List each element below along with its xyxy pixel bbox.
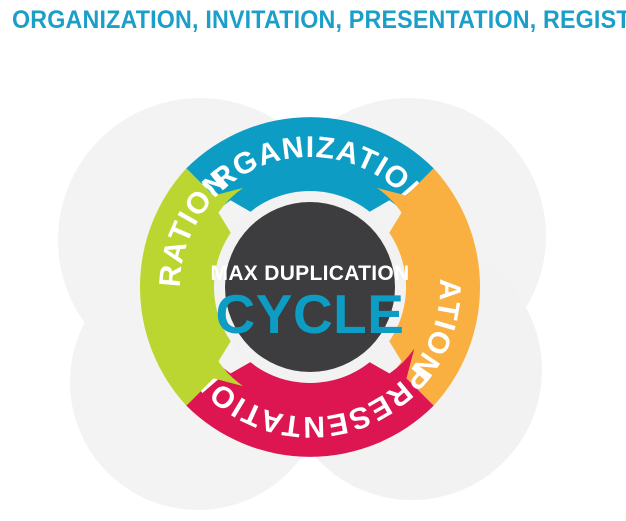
page-title: ORGANIZATION, INVITATION, PRESENTATION, … bbox=[12, 6, 626, 35]
hub-top-label: MAX DUPLICATION bbox=[211, 262, 410, 285]
cycle-diagram: ORGANIZATION INVITATION PRESENTATION REG… bbox=[0, 40, 626, 521]
hub-main-label: CYCLE bbox=[216, 283, 405, 345]
